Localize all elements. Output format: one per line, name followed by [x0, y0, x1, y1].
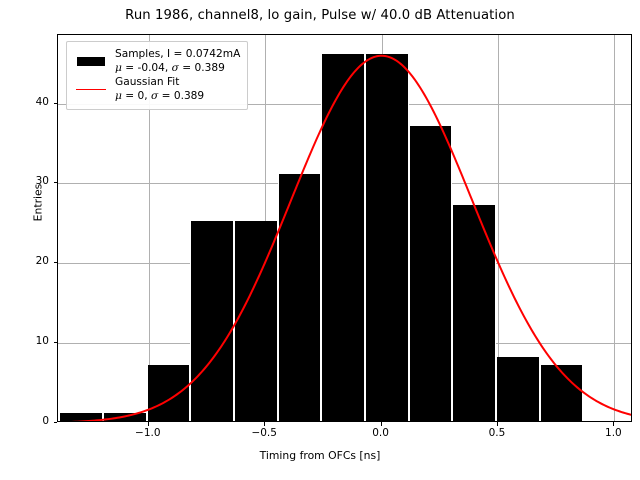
y-tick-label: 0 [9, 415, 49, 427]
y-tick-mark [54, 342, 58, 343]
x-tick-mark [264, 422, 265, 426]
x-tick-mark [381, 422, 382, 426]
legend-marker [76, 89, 106, 91]
legend-label-name: Samples, I = 0.0742mA [115, 48, 240, 62]
x-tick-mark [148, 422, 149, 426]
figure-canvas: Run 1986, channel8, lo gain, Pulse w/ 40… [0, 0, 640, 480]
x-tick-label: −1.0 [118, 427, 178, 439]
legend[interactable]: Samples, I = 0.0742mAμ = -0.04, σ = 0.38… [66, 41, 248, 110]
y-tick-mark [54, 182, 58, 183]
legend-label-name: Gaussian Fit [115, 76, 204, 90]
x-tick-label: 0.0 [351, 427, 411, 439]
x-tick-label: 1.0 [583, 427, 640, 439]
legend-label-stats: μ = -0.04, σ = 0.389 [115, 62, 240, 76]
legend-label-stats: μ = 0, σ = 0.389 [115, 90, 204, 104]
y-tick-label: 40 [9, 96, 49, 108]
x-tick-mark [497, 422, 498, 426]
x-axis-label: Timing from OFCs [ns] [0, 449, 640, 462]
legend-label: Gaussian Fitμ = 0, σ = 0.389 [115, 76, 204, 103]
y-tick-mark [54, 262, 58, 263]
x-tick-mark [613, 422, 614, 426]
legend-swatch-line-icon [73, 89, 108, 91]
page-title: Run 1986, channel8, lo gain, Pulse w/ 40… [0, 8, 640, 23]
legend-label: Samples, I = 0.0742mAμ = -0.04, σ = 0.38… [115, 48, 240, 75]
x-tick-label: −0.5 [234, 427, 294, 439]
y-tick-mark [54, 103, 58, 104]
x-tick-label: 0.5 [467, 427, 527, 439]
legend-marker [77, 57, 105, 66]
legend-swatch-patch-icon [73, 57, 108, 66]
y-tick-label: 10 [9, 335, 49, 347]
gaussian-fit-path [58, 56, 632, 422]
legend-entry[interactable]: Gaussian Fitμ = 0, σ = 0.389 [73, 76, 240, 103]
y-axis-label: Entries [32, 143, 45, 263]
legend-entry[interactable]: Samples, I = 0.0742mAμ = -0.04, σ = 0.38… [73, 48, 240, 75]
y-tick-mark [54, 422, 58, 423]
